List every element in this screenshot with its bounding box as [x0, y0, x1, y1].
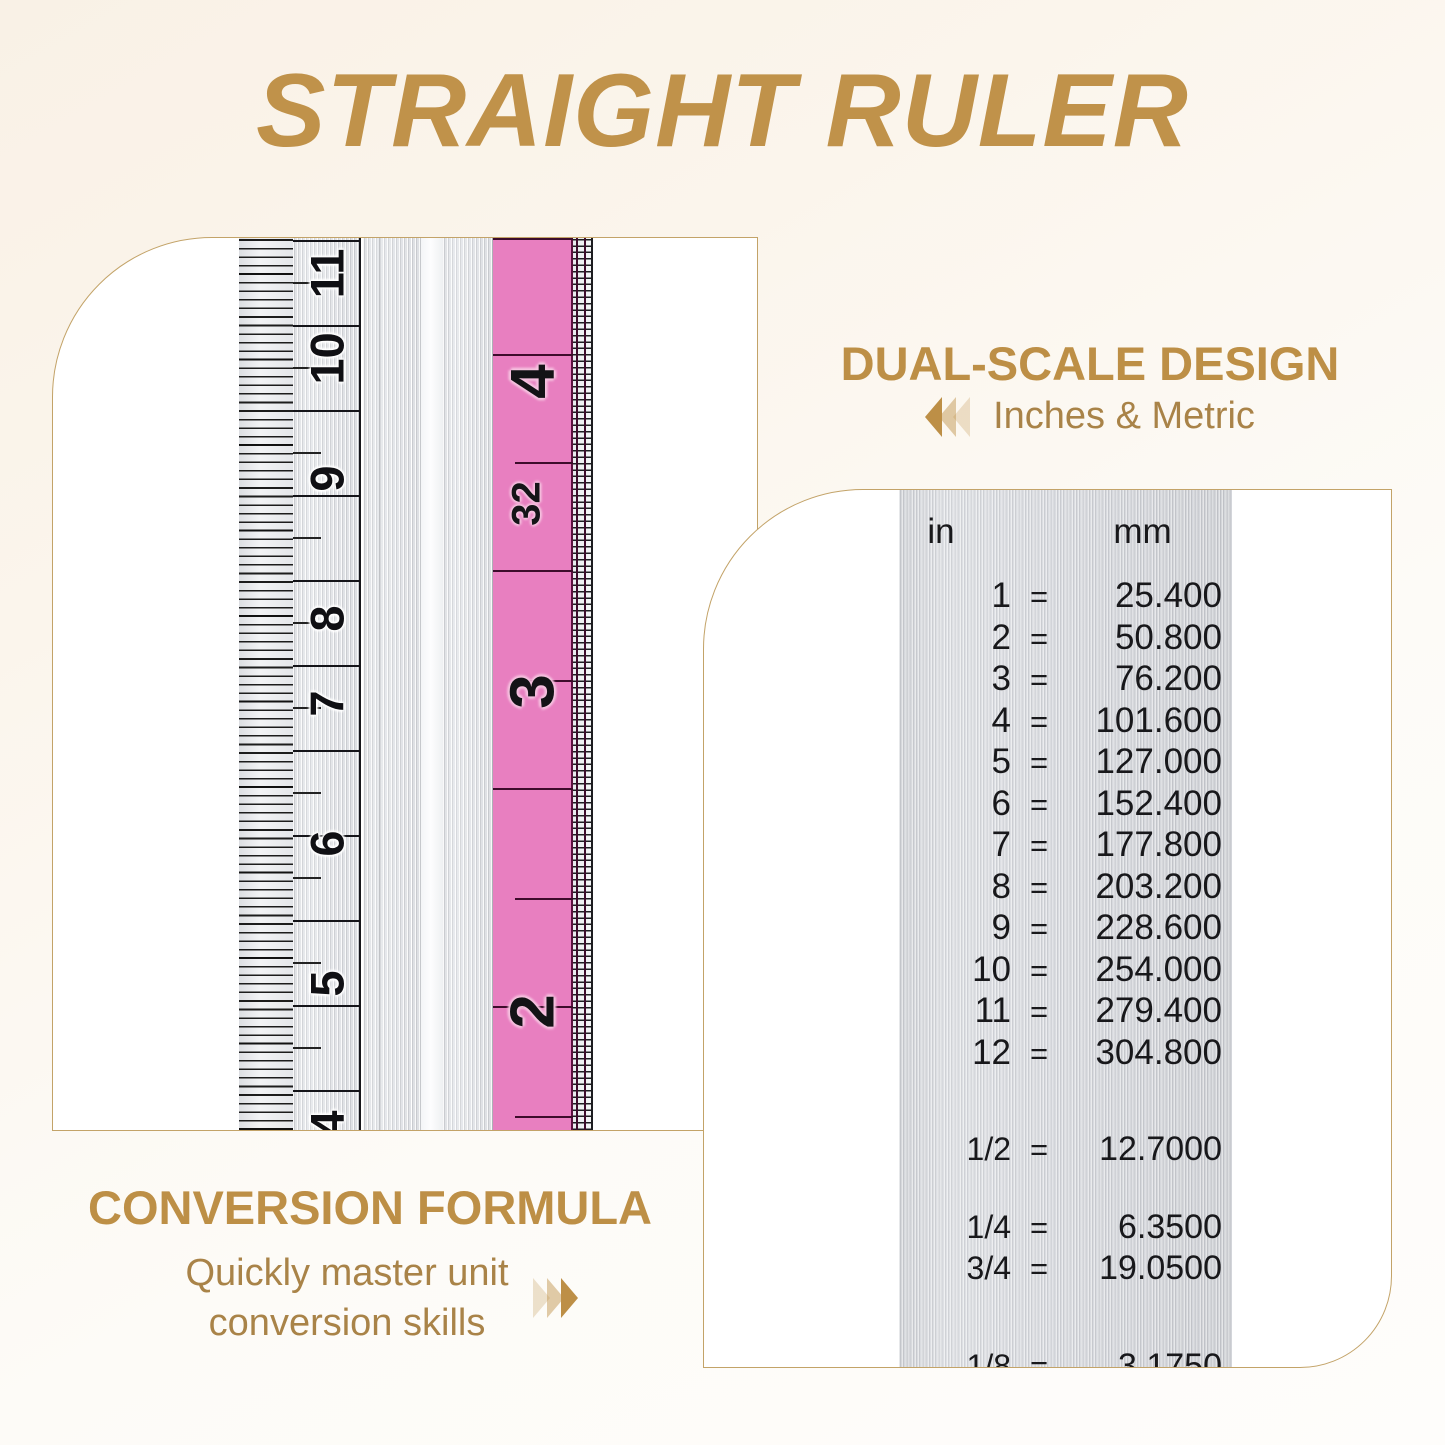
- conversion-heading: CONVERSION FORMULA: [40, 1180, 700, 1235]
- cell-mm: 127.000: [1067, 742, 1232, 782]
- table-row: 10=254.000: [899, 950, 1232, 992]
- cell-equals: =: [1011, 953, 1067, 989]
- cell-in: 1/8: [899, 1348, 1011, 1369]
- column-header-mm: mm: [1067, 512, 1232, 552]
- cell-in: 6: [899, 784, 1011, 824]
- cm-number: 6: [300, 810, 355, 878]
- conversion-subtitle: Quickly master unit conversion skills: [185, 1248, 508, 1348]
- table-header-row: in mm: [899, 512, 1232, 576]
- inch-number: 3: [498, 652, 569, 732]
- cell-in: 10: [899, 950, 1011, 990]
- cell-equals: =: [1011, 994, 1067, 1030]
- cm-number: 11: [300, 240, 355, 308]
- cell-in: 3: [899, 659, 1011, 699]
- dual-scale-subtitle-row: Inches & Metric: [790, 395, 1390, 438]
- cell-mm: 101.600: [1067, 701, 1232, 741]
- table-row: 4=101.600: [899, 701, 1232, 743]
- cell-in: 7: [899, 825, 1011, 865]
- table-row: 11=279.400: [899, 991, 1232, 1033]
- table-row: 8=203.200: [899, 867, 1232, 909]
- inch-number: 2: [498, 972, 569, 1052]
- table-row: 3=76.200: [899, 659, 1232, 701]
- table-row: 1=25.400: [899, 576, 1232, 618]
- ruler-body-left: [363, 237, 421, 1130]
- metric-tick-field: [239, 237, 293, 1130]
- cell-equals: =: [1011, 787, 1067, 823]
- metric-number-band: 11 10 9 8 7 6 5 4: [293, 237, 361, 1130]
- chevron-right-icon: [533, 1278, 575, 1318]
- cell-in: 2: [899, 618, 1011, 658]
- cell-in: 4: [899, 701, 1011, 741]
- cell-equals: =: [1011, 704, 1067, 740]
- ruler-edge-rule: [584, 237, 586, 1130]
- conversion-table-panel: in mm 1=25.400 2=50.800 3=76.200 4=101.6…: [703, 489, 1392, 1368]
- cell-mm: 76.200: [1067, 659, 1232, 699]
- inch-number: 4: [498, 342, 569, 422]
- table-row: 3/4=19.0500: [899, 1249, 1232, 1291]
- cell-mm: 177.800: [1067, 825, 1232, 865]
- cell-equals: =: [1011, 579, 1067, 615]
- table-row: 12=304.800: [899, 1033, 1232, 1075]
- cell-mm: 6.3500: [1067, 1208, 1232, 1247]
- page-title: STRAIGHT RULER: [0, 52, 1445, 171]
- table-row: 6=152.400: [899, 784, 1232, 826]
- cell-equals: =: [1011, 1349, 1067, 1369]
- conversion-subtitle-line1: Quickly master unit: [185, 1252, 508, 1294]
- dual-scale-heading: DUAL-SCALE DESIGN: [790, 336, 1390, 391]
- cell-mm: 25.400: [1067, 576, 1232, 616]
- table-spacer: [899, 1172, 1232, 1208]
- cell-mm: 19.0500: [1067, 1249, 1232, 1288]
- cell-mm: 152.400: [1067, 784, 1232, 824]
- cm-number: 10: [300, 325, 355, 393]
- fine-scale-label: 32: [505, 464, 550, 544]
- cell-mm: 254.000: [1067, 950, 1232, 990]
- cell-in: 1/2: [899, 1131, 1011, 1168]
- ruler-body-right: [443, 237, 493, 1130]
- cell-mm: 3.1750: [1067, 1347, 1232, 1369]
- cm-number: 8: [300, 585, 355, 653]
- ruler-photo-panel: 11 10 9 8 7 6 5 4 4 3 2: [52, 237, 758, 1131]
- cell-equals: =: [1011, 1210, 1067, 1246]
- cell-equals: =: [1011, 1036, 1067, 1072]
- cell-in: 12: [899, 1033, 1011, 1073]
- cell-in: 5: [899, 742, 1011, 782]
- ruler-edge-rule: [591, 237, 593, 1130]
- cell-equals: =: [1011, 1132, 1067, 1168]
- cell-equals: =: [1011, 745, 1067, 781]
- cell-in: 3/4: [899, 1250, 1011, 1287]
- chevron-left-icon: [925, 397, 967, 437]
- table-spacer: [899, 1074, 1232, 1130]
- column-header-in: in: [899, 512, 1011, 552]
- cell-equals: =: [1011, 621, 1067, 657]
- cell-in: 11: [899, 991, 1011, 1031]
- cm-number: 4: [300, 1090, 355, 1132]
- cell-mm: 12.7000: [1067, 1130, 1232, 1169]
- table-row: 1/4=6.3500: [899, 1208, 1232, 1250]
- cell-in: 9: [899, 908, 1011, 948]
- cm-number: 7: [300, 670, 355, 738]
- table-spacer: [899, 1291, 1232, 1347]
- cell-equals: =: [1011, 870, 1067, 906]
- cell-equals: =: [1011, 911, 1067, 947]
- cell-equals: =: [1011, 1251, 1067, 1287]
- table-row: 7=177.800: [899, 825, 1232, 867]
- conversion-subtitle-line2: conversion skills: [209, 1302, 486, 1344]
- cell-in: 1: [899, 576, 1011, 616]
- cell-mm: 203.200: [1067, 867, 1232, 907]
- ruler-channel: [421, 237, 443, 1130]
- cm-number: 9: [300, 445, 355, 513]
- imperial-number-band: 4 3 2 32: [493, 237, 573, 1130]
- cell-equals: =: [1011, 662, 1067, 698]
- cell-mm: 50.800: [1067, 618, 1232, 658]
- conversion-subtitle-row: Quickly master unit conversion skills: [40, 1248, 720, 1348]
- ruler-edge-rule: [576, 237, 578, 1130]
- conversion-table: in mm 1=25.400 2=50.800 3=76.200 4=101.6…: [899, 490, 1232, 1368]
- table-row: 5=127.000: [899, 742, 1232, 784]
- cell-mm: 228.600: [1067, 908, 1232, 948]
- dual-scale-subtitle: Inches & Metric: [993, 395, 1255, 438]
- table-row: 2=50.800: [899, 618, 1232, 660]
- cell-mm: 279.400: [1067, 991, 1232, 1031]
- cell-equals: =: [1011, 828, 1067, 864]
- table-row: 1/8=3.1750: [899, 1347, 1232, 1369]
- cell-in: 8: [899, 867, 1011, 907]
- ruler-illustration: 11 10 9 8 7 6 5 4 4 3 2: [239, 237, 593, 1130]
- table-row: 1/2=12.7000: [899, 1130, 1232, 1172]
- table-row: 9=228.600: [899, 908, 1232, 950]
- cell-in: 1/4: [899, 1209, 1011, 1246]
- cm-number: 5: [300, 950, 355, 1018]
- cell-mm: 304.800: [1067, 1033, 1232, 1073]
